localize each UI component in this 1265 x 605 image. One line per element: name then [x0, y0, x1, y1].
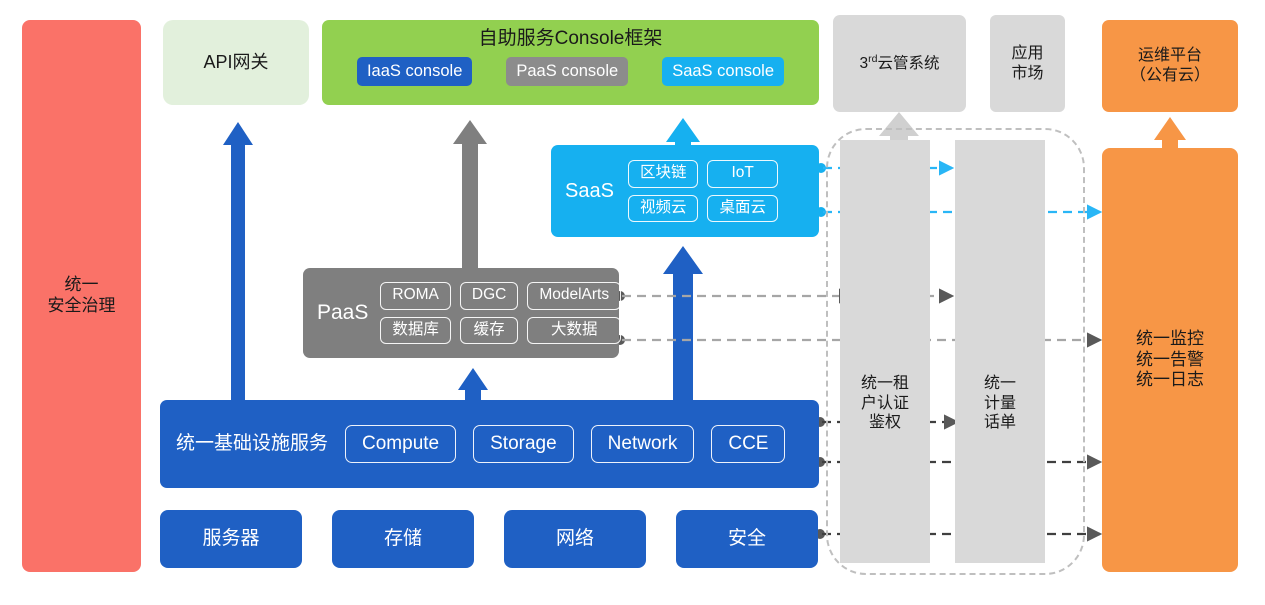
infra-service-cce[interactable]: CCE — [711, 425, 785, 463]
console-chip-iaas[interactable]: IaaS console — [357, 57, 472, 86]
dashed-paas-to-auth — [615, 291, 852, 301]
app-market-box: 应用 市场 — [990, 15, 1065, 112]
saas-service-iot[interactable]: IoT — [707, 160, 778, 188]
infra-service-compute[interactable]: Compute — [345, 425, 456, 463]
third-party-cloud-manager-box: 3rd云管系统 — [833, 15, 966, 112]
infra-service-network[interactable]: Network — [591, 425, 695, 463]
shared-service-auth: 统一租 户认证 鉴权 — [840, 140, 930, 563]
api-gateway-box: API网关 — [163, 20, 309, 105]
third-party-cloud-manager-label: 3rd云管系统 — [859, 53, 939, 74]
console-chip-row: IaaS console PaaS console SaaS console — [357, 57, 784, 86]
app-market-label: 应用 市场 — [1011, 44, 1043, 83]
hardware-box-server-label: 服务器 — [202, 527, 259, 550]
paas-service-grid: ROMA DGC ModelArts 数据库 缓存 大数据 — [380, 282, 621, 345]
arrow-ops-body-to-ops-top — [1154, 117, 1186, 150]
arrow-saas-to-console — [666, 118, 700, 147]
unified-infrastructure-service-bar: 统一基础设施服务 Compute Storage Network CCE — [160, 400, 819, 488]
hardware-box-network-label: 网络 — [556, 527, 594, 550]
saas-service-desktop-cloud[interactable]: 桌面云 — [707, 195, 778, 223]
paas-layer: PaaS ROMA DGC ModelArts 数据库 缓存 大数据 — [303, 268, 619, 358]
hardware-box-server: 服务器 — [160, 510, 302, 568]
arrow-infra-to-saas — [663, 246, 703, 402]
saas-service-blockchain[interactable]: 区块链 — [628, 160, 699, 188]
hardware-box-storage: 存储 — [332, 510, 474, 568]
ops-capabilities-panel: 统一监控 统一告警 统一日志 — [1102, 148, 1238, 572]
architecture-diagram: 统一租 户认证 鉴权 统一 计量 话单 统一 安全治理 API网关 自助服务Co… — [0, 0, 1265, 605]
hardware-box-security-label: 安全 — [728, 527, 766, 550]
unified-security-governance-panel: 统一 安全治理 — [22, 20, 141, 572]
hardware-box-storage-label: 存储 — [384, 527, 422, 550]
shared-service-billing-label: 统一 计量 话单 — [984, 374, 1016, 433]
arrow-infra-to-api-gateway — [223, 122, 253, 402]
api-gateway-label: API网关 — [203, 52, 268, 74]
unified-infrastructure-service-label: 统一基础设施服务 — [176, 432, 328, 455]
ops-capabilities-label: 统一监控 统一告警 统一日志 — [1136, 329, 1204, 391]
paas-service-modelarts[interactable]: ModelArts — [527, 282, 621, 310]
hardware-box-network: 网络 — [504, 510, 646, 568]
paas-service-bigdata[interactable]: 大数据 — [527, 317, 621, 345]
saas-service-video-cloud[interactable]: 视频云 — [628, 195, 699, 223]
infra-service-storage[interactable]: Storage — [473, 425, 574, 463]
saas-layer: SaaS 区块链 IoT 视频云 桌面云 — [551, 145, 819, 237]
ops-platform-label: 运维平台 （公有云） — [1130, 46, 1210, 85]
arrow-paas-to-console — [453, 120, 487, 268]
arrow-infra-to-paas — [458, 368, 488, 402]
console-chip-saas[interactable]: SaaS console — [662, 57, 784, 86]
paas-service-roma[interactable]: ROMA — [380, 282, 451, 310]
self-service-console-frame: 自助服务Console框架 IaaS console PaaS console … — [322, 20, 819, 105]
shared-service-billing: 统一 计量 话单 — [955, 140, 1045, 563]
console-frame-title: 自助服务Console框架 — [479, 27, 663, 50]
saas-layer-label: SaaS — [565, 179, 614, 203]
paas-service-cache[interactable]: 缓存 — [460, 317, 518, 345]
hardware-box-security: 安全 — [676, 510, 818, 568]
console-chip-paas[interactable]: PaaS console — [506, 57, 628, 86]
paas-service-dgc[interactable]: DGC — [460, 282, 518, 310]
unified-security-governance-label: 统一 安全治理 — [48, 275, 116, 316]
paas-service-database[interactable]: 数据库 — [380, 317, 451, 345]
paas-layer-label: PaaS — [317, 300, 368, 326]
saas-service-grid: 区块链 IoT 视频云 桌面云 — [628, 160, 778, 223]
shared-service-auth-label: 统一租 户认证 鉴权 — [861, 374, 909, 433]
ops-platform-box: 运维平台 （公有云） — [1102, 20, 1238, 112]
